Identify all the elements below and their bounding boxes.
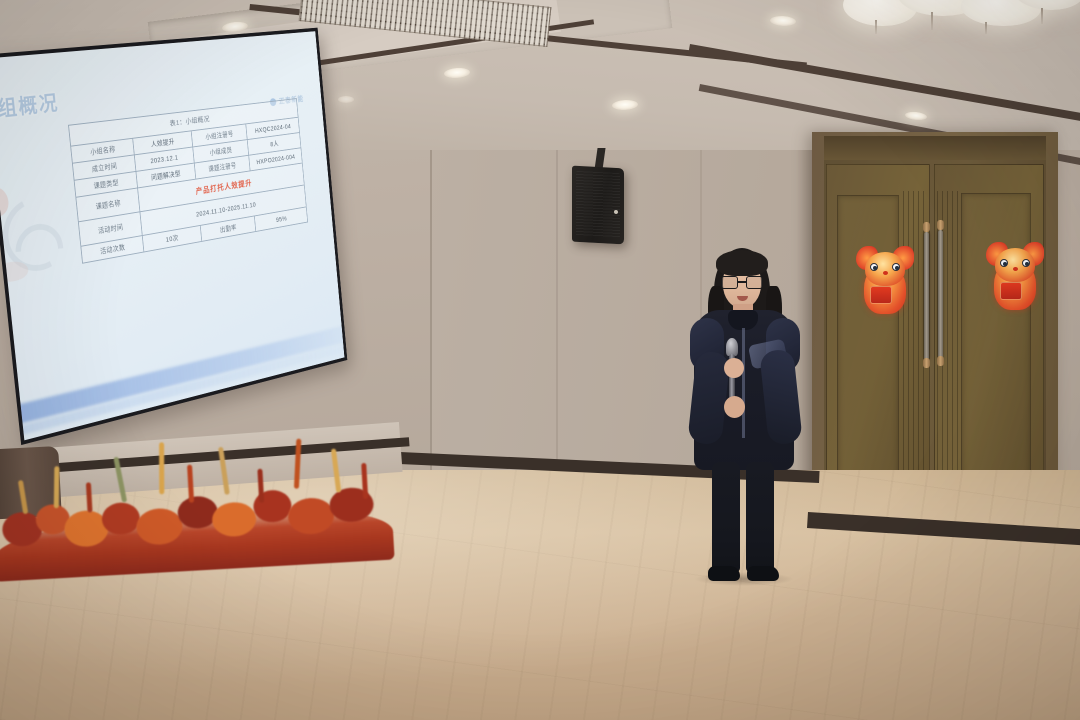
shoe-left <box>708 566 740 581</box>
hair-fringe <box>716 250 768 276</box>
collar <box>728 310 758 330</box>
wall-speaker <box>572 166 624 245</box>
door-panel <box>961 193 1031 495</box>
legs <box>710 462 776 582</box>
presenter <box>688 246 800 586</box>
dragon-papercut-decoration-right <box>988 242 1042 312</box>
slide-title: 小组概况 <box>0 87 60 125</box>
speaker-grille <box>576 171 620 238</box>
door-handle-left[interactable] <box>924 232 929 360</box>
glasses-icon <box>721 276 763 289</box>
shoe-right <box>747 566 779 581</box>
speaker-led-icon <box>614 210 618 214</box>
door-transom <box>824 136 1046 162</box>
door-handle-cap <box>937 356 944 366</box>
door-handle-cap <box>923 222 930 232</box>
door-handle-cap <box>923 358 930 368</box>
door-panel <box>837 195 899 495</box>
hand-upper <box>724 358 744 378</box>
door-handle-cap <box>937 220 944 230</box>
conference-room-photo: 小组概况 正泰新能 表1：小组概况 小组名称 人效提升 小组注册号 <box>0 0 1080 720</box>
ceiling-chandelier <box>835 0 1080 50</box>
projection-screen: 小组概况 正泰新能 表1：小组概况 小组名称 人效提升 小组注册号 <box>0 28 347 445</box>
floral-arrangement <box>0 430 395 582</box>
hand-lower <box>724 396 745 418</box>
projection-screen-area: 小组概况 正泰新能 表1：小组概况 小组名称 人效提升 小组注册号 <box>0 55 420 475</box>
door-grooves <box>903 191 925 499</box>
jacket-zipper <box>742 328 745 438</box>
slide-overview-table: 表1：小组概况 小组名称 人效提升 小组注册号 HXQC2024-04 成立时间… <box>68 98 308 264</box>
dragon-papercut-decoration-left <box>858 246 912 316</box>
door-handle-right[interactable] <box>938 230 943 360</box>
